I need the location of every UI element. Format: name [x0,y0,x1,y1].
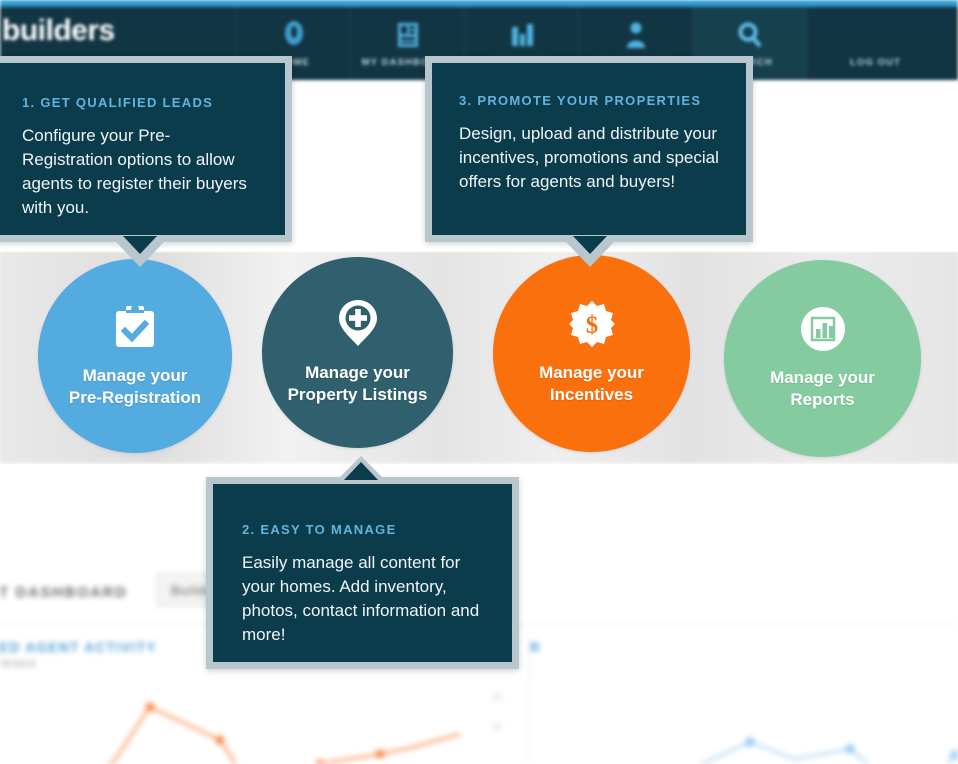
callout-easy-to-manage: 2. EASY TO MANAGE Easily manage all cont… [206,477,519,669]
circle-manage-incentives[interactable]: $ Manage yourIncentives [493,255,690,452]
dashboard-icon [396,20,420,50]
dashboard-title: MARKET DASHBOARD [0,584,127,601]
callout-1-text: Configure your Pre-Registration options … [22,124,261,220]
home-pin-icon [283,20,305,50]
callout-get-qualified-leads: 1. GET QUALIFIED LEADS Configure your Pr… [0,56,292,242]
nav-item-log-out[interactable]: LOG OUT [806,7,944,80]
bar-chart-icon [509,20,535,50]
circle-label-1: Manage yourPre-Registration [69,365,201,409]
circle-manage-reports[interactable]: Manage yourReports [724,260,921,457]
map-pin-plus-icon [337,299,379,352]
circle-label-3: Manage yourIncentives [539,362,644,406]
circle-label-2: Manage yourProperty Listings [288,362,428,406]
callout-2-text: Easily manage all content for your homes… [242,551,488,647]
dollar-badge-icon: $ [569,301,615,352]
svg-text:$: $ [585,312,598,339]
callout-promote-your-properties: 3. PROMOTE YOUR PROPERTIES Design, uploa… [425,56,753,242]
callout-3-text: Design, upload and distribute your incen… [459,122,720,194]
callout-3-title: 3. PROMOTE YOUR PROPERTIES [459,93,720,108]
agent-activity-line-chart [0,674,520,764]
nav-label-log-out: LOG OUT [850,57,901,68]
secondary-line-chart [530,639,958,764]
card-title-agent-activity: COMBINED AGENT ACTIVITY [0,640,157,655]
nav-accent-bar [0,0,958,7]
bar-chart-circle-icon [800,306,846,357]
site-logo[interactable]: builders [0,14,115,48]
circle-manage-pre-registration[interactable]: Manage yourPre-Registration [38,259,232,453]
callout-1-title: 1. GET QUALIFIED LEADS [22,95,261,110]
user-icon [625,20,647,50]
circle-label-4: Manage yourReports [770,367,875,411]
circle-manage-property-listings[interactable]: Manage yourProperty Listings [262,257,453,448]
callout-2-title: 2. EASY TO MANAGE [242,522,488,537]
card-subtitle: ACTIVITY TRENDS [0,659,37,670]
search-icon [738,20,762,50]
clipboard-check-icon [113,304,157,355]
